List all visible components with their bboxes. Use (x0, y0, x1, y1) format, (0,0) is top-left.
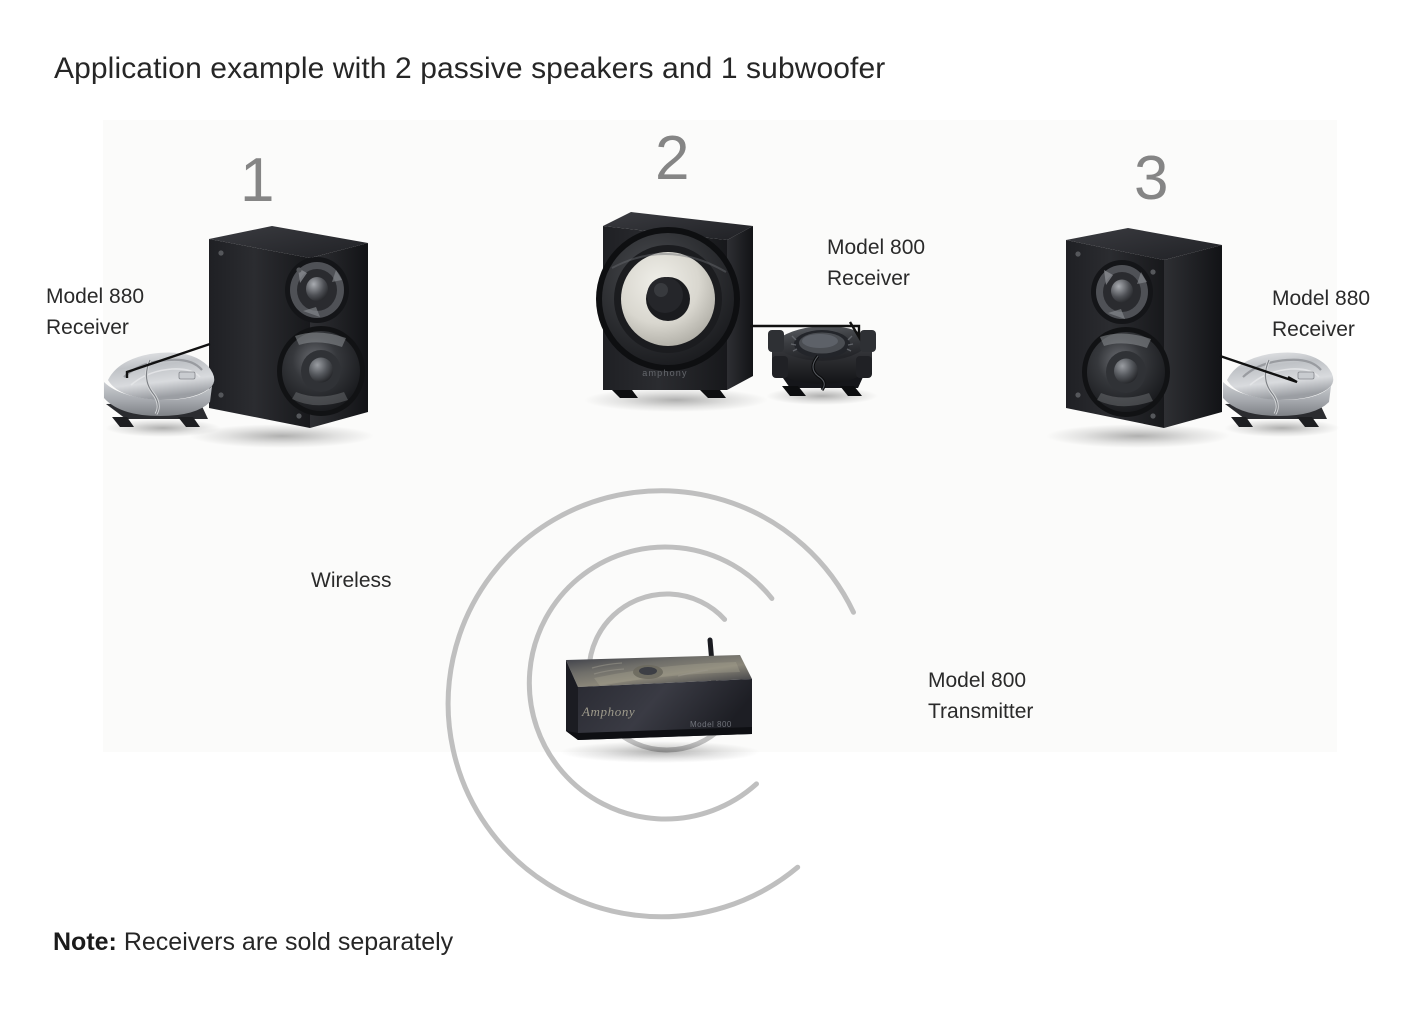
callout-line-2: Receiver (1272, 314, 1370, 345)
callout-line-1: Model 800 (928, 665, 1033, 696)
step-number-3: 3 (1134, 148, 1168, 210)
page-title: Application example with 2 passive speak… (54, 52, 885, 86)
note-prefix: Note: (53, 928, 117, 956)
callout-label-receiver-left: Model 880 Receiver (46, 281, 144, 343)
callout-line-2: Transmitter (928, 696, 1033, 727)
step-number-2: 2 (655, 128, 689, 190)
callout-label-transmitter: Model 800 Transmitter (928, 665, 1033, 727)
callout-line-2: Receiver (46, 312, 144, 343)
note: Note: Receivers are sold separately (53, 928, 453, 957)
note-text: Receivers are sold separately (117, 928, 453, 956)
callout-label-wireless: Wireless (311, 565, 392, 596)
callout-line-1: Model 880 (46, 281, 144, 312)
callout-label-receiver-center: Model 800 Receiver (827, 232, 925, 294)
diagram-panel (103, 120, 1337, 752)
callout-line-2: Receiver (827, 263, 925, 294)
callout-label-receiver-right: Model 880 Receiver (1272, 283, 1370, 345)
callout-line-1: Model 880 (1272, 283, 1370, 314)
callout-line-1: Wireless (311, 565, 392, 596)
callout-line-1: Model 800 (827, 232, 925, 263)
step-number-1: 1 (240, 150, 274, 212)
